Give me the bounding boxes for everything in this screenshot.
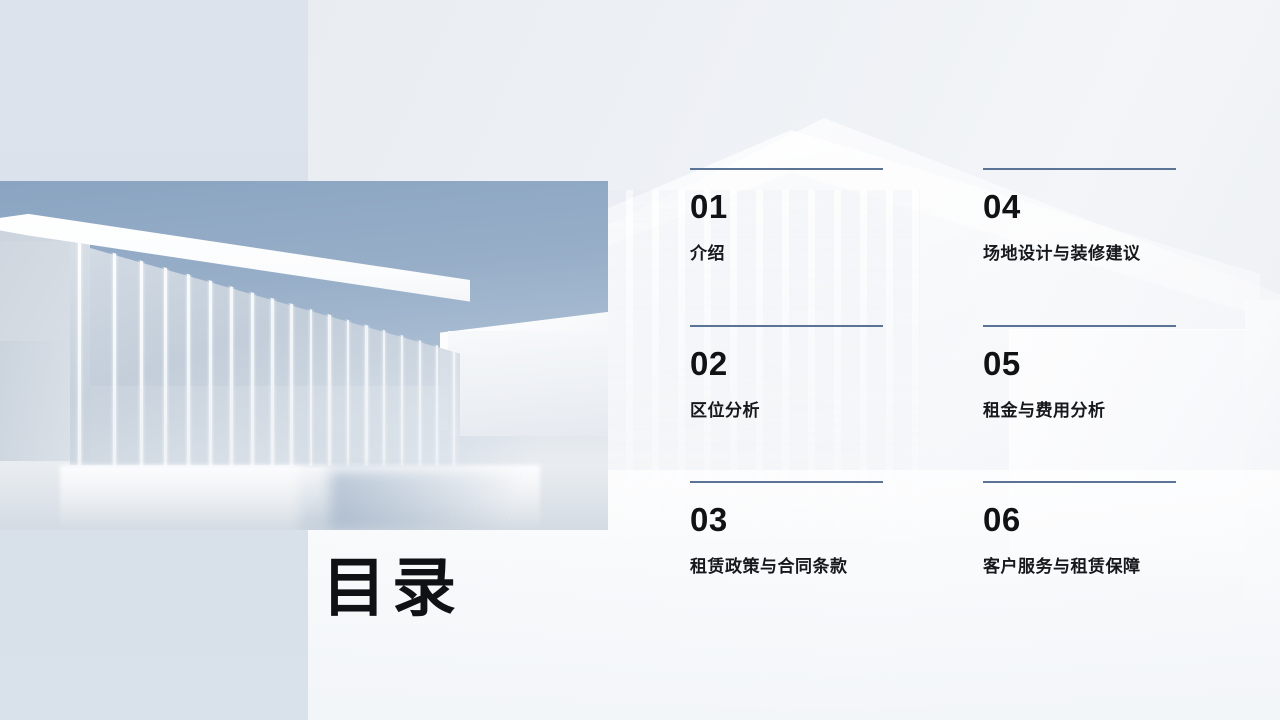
toc-item-number: 02 — [690, 347, 882, 380]
toc-item-label: 区位分析 — [690, 401, 882, 421]
page-title: 目录 — [322, 556, 462, 620]
toc-divider-line — [690, 325, 883, 327]
toc-item-label: 租金与费用分析 — [983, 401, 1182, 421]
toc-item-label: 客户服务与租赁保障 — [983, 557, 1182, 577]
toc-item-03[interactable]: 03 租赁政策与合同条款 — [690, 481, 882, 638]
photo-column — [78, 231, 81, 466]
toc-item-label: 介绍 — [690, 244, 882, 264]
photo-column — [113, 231, 116, 466]
architecture-photo — [0, 181, 608, 530]
photo-column — [140, 231, 143, 466]
table-of-contents: 01 介绍 04 场地设计与装修建议 02 区位分析 05 租金与费用分析 03… — [690, 168, 1182, 638]
toc-divider-line — [983, 168, 1176, 170]
toc-item-number: 05 — [983, 347, 1182, 380]
slide-canvas: 目录 01 介绍 04 场地设计与装修建议 02 区位分析 05 租金与费用分析… — [0, 0, 1280, 720]
photo-floor-shadow — [330, 471, 560, 530]
toc-item-number: 01 — [690, 190, 882, 223]
toc-item-number: 06 — [983, 503, 1182, 536]
toc-item-04[interactable]: 04 场地设计与装修建议 — [983, 168, 1182, 325]
toc-item-02[interactable]: 02 区位分析 — [690, 325, 882, 482]
photo-side-wing-face — [448, 331, 608, 436]
toc-divider-line — [983, 481, 1176, 483]
toc-divider-line — [690, 481, 883, 483]
background-left-panel-lower — [0, 531, 308, 720]
toc-divider-line — [690, 168, 883, 170]
toc-item-number: 04 — [983, 190, 1182, 223]
toc-item-number: 03 — [690, 503, 882, 536]
toc-item-label: 场地设计与装修建议 — [983, 244, 1182, 264]
toc-item-01[interactable]: 01 介绍 — [690, 168, 882, 325]
toc-item-05[interactable]: 05 租金与费用分析 — [983, 325, 1182, 482]
toc-item-label: 租赁政策与合同条款 — [690, 557, 882, 577]
toc-item-06[interactable]: 06 客户服务与租赁保障 — [983, 481, 1182, 638]
toc-divider-line — [983, 325, 1176, 327]
